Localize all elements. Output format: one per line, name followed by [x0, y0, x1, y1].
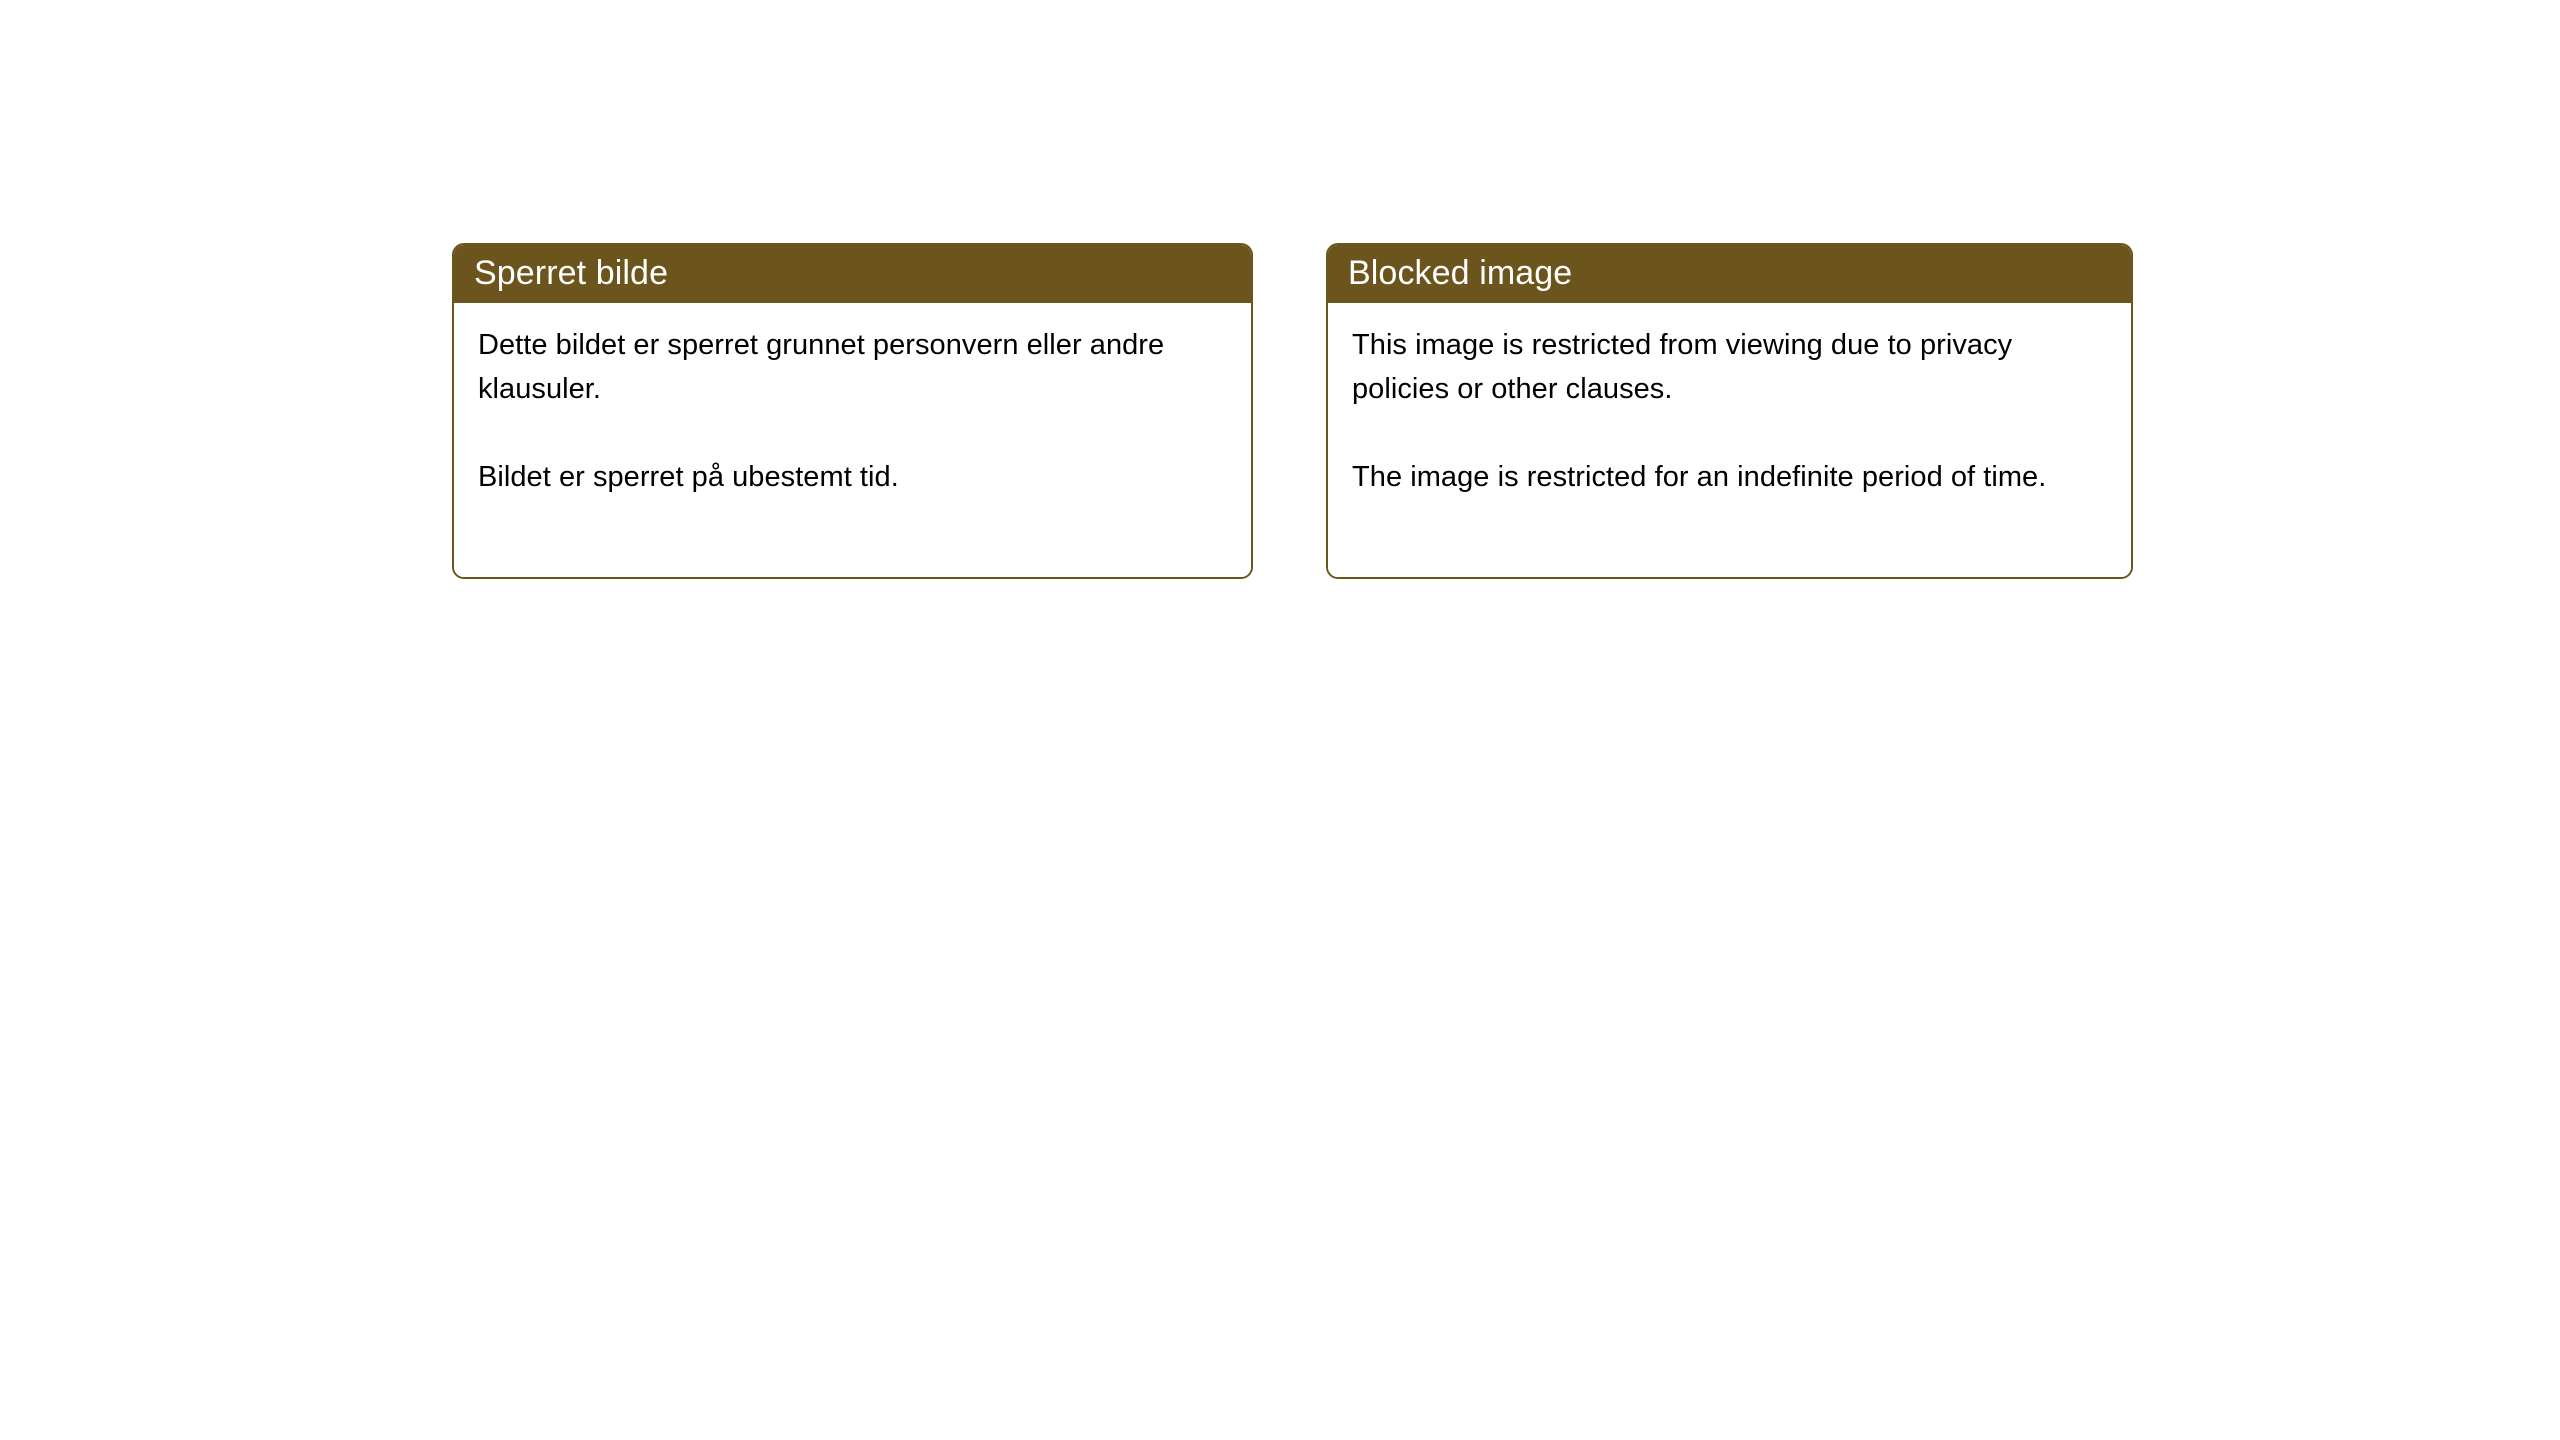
- blocked-image-notice-group: Sperret bilde Dette bildet er sperret gr…: [452, 243, 2133, 579]
- card-paragraph-primary-english: This image is restricted from viewing du…: [1352, 323, 2052, 411]
- card-paragraph-secondary-norwegian: Bildet er sperret på ubestemt tid.: [478, 455, 1178, 499]
- card-title-norwegian: Sperret bilde: [474, 256, 668, 290]
- blocked-image-card-english: Blocked image This image is restricted f…: [1326, 243, 2133, 579]
- card-header-english: Blocked image: [1326, 243, 2133, 303]
- card-title-english: Blocked image: [1348, 256, 1572, 290]
- card-paragraph-secondary-english: The image is restricted for an indefinit…: [1352, 455, 2052, 499]
- card-header-norwegian: Sperret bilde: [452, 243, 1253, 303]
- card-body-english: This image is restricted from viewing du…: [1328, 303, 2131, 577]
- blocked-image-card-norwegian: Sperret bilde Dette bildet er sperret gr…: [452, 243, 1253, 579]
- card-paragraph-primary-norwegian: Dette bildet er sperret grunnet personve…: [478, 323, 1178, 411]
- card-body-norwegian: Dette bildet er sperret grunnet personve…: [454, 303, 1251, 577]
